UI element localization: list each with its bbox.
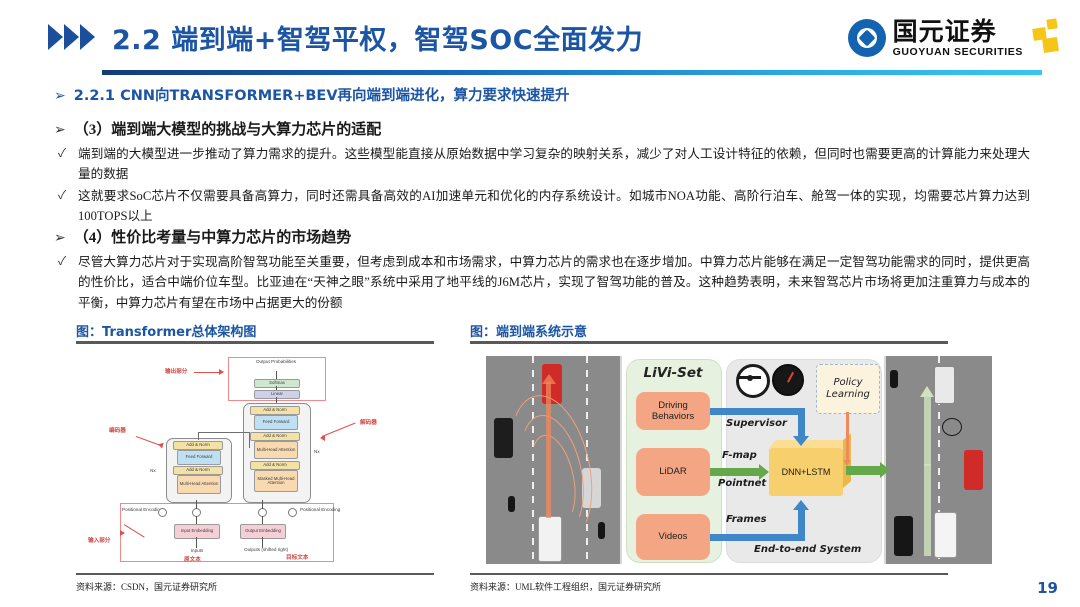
ego-trajectory-arrow bbox=[546, 382, 551, 518]
input-part-arrowhead bbox=[120, 530, 125, 536]
bullet-arrow-icon: ➢ bbox=[54, 230, 66, 246]
logo-name-en: GUOYUAN SECURITIES bbox=[893, 47, 1023, 58]
output-part-label: 输出部分 bbox=[165, 367, 187, 375]
output-probabilities-label: Output Probabilities bbox=[242, 359, 310, 364]
paragraph-3-2-text: 这就要求SoC芯片不仅需要具备高算力，同时还需具备高效的AI加速单元和优化的内存… bbox=[78, 189, 1030, 223]
figure-left-source-rule bbox=[76, 573, 434, 575]
figure-left-source: 资料来源：CSDN，国元证券研究所 bbox=[76, 580, 217, 593]
linear-block: Linear bbox=[254, 390, 300, 399]
bullet-arrow-icon: ➢ bbox=[54, 88, 66, 104]
positional-encoding-right-label: Positional Encoding bbox=[300, 507, 332, 512]
figure-right-caption: 图：端到端系统示意 bbox=[470, 321, 587, 340]
encoder-add-norm-2: Add & Norm bbox=[173, 441, 223, 450]
guoyuan-circle-logo-icon bbox=[848, 19, 886, 57]
decoder-pointer bbox=[322, 423, 356, 438]
figure-left-caption-rule bbox=[76, 341, 434, 344]
subheading-4: ➢（4）性价比考量与中算力芯片的市场趋势 bbox=[54, 226, 351, 247]
encoder-add-norm-1: Add & Norm bbox=[173, 466, 223, 475]
subheading-3-text: （3）端到端大模型的挑战与大算力芯片的适配 bbox=[74, 122, 382, 138]
bullet-tick-icon: ✓ bbox=[58, 186, 66, 205]
outputs-label: Outputs (shifted right) bbox=[244, 547, 282, 552]
figure-right-source: 资料来源：UML软件工程组织，国元证券研究所 bbox=[470, 580, 661, 593]
output-arrow bbox=[846, 466, 882, 475]
page-number: 19 bbox=[1037, 579, 1058, 597]
decoder-feed-forward: Feed Forward bbox=[254, 415, 298, 430]
decoder-cross-attention: Multi-Head Attention bbox=[254, 441, 298, 459]
source-text-label: 原文本 bbox=[184, 555, 201, 563]
transformer-architecture-diagram: 输出部分 Output Probabilities Softmax Linear… bbox=[88, 356, 428, 564]
paragraph-4-1: ✓ 尽管大算力芯片对于实现高阶智驾功能至关重要，但考虑到成本和市场需求，中算力芯… bbox=[78, 252, 1030, 313]
decoder-add-norm-2: Add & Norm bbox=[250, 432, 300, 441]
pedestrian-left bbox=[508, 496, 515, 512]
fmap-label: F-map bbox=[722, 450, 757, 461]
encoder-arrowhead bbox=[157, 441, 163, 448]
decoder-arrowhead bbox=[320, 435, 325, 441]
planned-path bbox=[924, 464, 931, 556]
encoder-self-attention: Multi-Head Attention bbox=[177, 475, 221, 494]
cyclist-right bbox=[942, 418, 962, 436]
chevron-right-icon bbox=[48, 24, 95, 50]
figure-left-caption: 图：Transformer总体架构图 bbox=[76, 321, 256, 340]
encoder-feed-forward: Feed Forward bbox=[177, 450, 221, 465]
target-text-label: 目标文本 bbox=[286, 553, 308, 561]
input-driving-behaviors: Driving Behaviors bbox=[636, 392, 710, 430]
end-to-end-system-diagram: LiVi-Set Driving Behaviors LiDAR Videos … bbox=[486, 356, 992, 564]
decoder-masked-attention: Masked Multi-Head Attention bbox=[254, 470, 298, 492]
decoder-nx-label: Nx bbox=[314, 449, 320, 454]
pedestrian-left-2 bbox=[598, 522, 605, 539]
bullet-tick-icon: ✓ bbox=[58, 252, 66, 271]
speedometer-icon bbox=[772, 364, 804, 396]
figure-right-caption-rule bbox=[470, 341, 948, 344]
slide: 2.2 端到端+智驾平权，智驾SOC全面发力 国元证券 GUOYUAN SECU… bbox=[0, 0, 1080, 607]
page-title: 2.2 端到端+智驾平权，智驾SOC全面发力 bbox=[112, 18, 643, 57]
input-embedding-block: Input Embedding bbox=[174, 524, 220, 539]
input-lidar: LiDAR bbox=[636, 448, 710, 496]
logo-squares-icon bbox=[1028, 18, 1062, 58]
car-black-right bbox=[894, 516, 913, 556]
decoder-label: 解码器 bbox=[360, 418, 377, 426]
figure-right-source-rule bbox=[470, 573, 948, 575]
subheading-3: ➢（3）端到端大模型的挑战与大算力芯片的适配 bbox=[54, 118, 381, 139]
output-embedding-block: Output Embedding bbox=[240, 524, 286, 539]
input-part-label: 输入部分 bbox=[88, 536, 110, 544]
motorcyclist-right bbox=[890, 370, 898, 388]
bullet-tick-icon: ✓ bbox=[58, 144, 66, 163]
car-white-right bbox=[934, 366, 955, 404]
frames-arrow bbox=[710, 534, 805, 541]
input-videos: Videos bbox=[636, 514, 710, 560]
supervisor-arrow bbox=[710, 408, 805, 415]
paragraph-3-1: ✓ 端到端的大模型进一步推动了算力需求的提升。这些模型能直接从原始数据中学习复杂… bbox=[78, 144, 1030, 185]
frames-label: Frames bbox=[726, 514, 767, 525]
dnn-lstm-box: DNN+LSTM bbox=[769, 448, 843, 496]
output-part-arrowhead bbox=[219, 369, 224, 375]
policy-feedback-arrow bbox=[846, 412, 849, 462]
supervisor-label: Supervisor bbox=[726, 418, 787, 429]
subheading-4-text: （4）性价比考量与中算力芯片的市场趋势 bbox=[74, 230, 352, 246]
section-heading-text: 2.2.1 CNN向TRANSFORMER+BEV再向端到端进化，算力要求快速提… bbox=[74, 88, 570, 104]
positional-encoding-left-label: Positional Encoding bbox=[122, 507, 154, 512]
steering-wheel-icon bbox=[736, 364, 770, 398]
paragraph-3-1-text: 端到端的大模型进一步推动了算力需求的提升。这些模型能直接从原始数据中学习复杂的映… bbox=[78, 147, 1030, 181]
livi-set-title: LiVi-Set bbox=[636, 365, 710, 381]
decoder-add-norm-3: Add & Norm bbox=[250, 406, 300, 415]
encoder-label: 编码器 bbox=[109, 426, 126, 434]
inputs-label: Inputs bbox=[180, 548, 214, 553]
pos-enc-circle-left bbox=[158, 508, 167, 517]
section-heading: ➢2.2.1 CNN向TRANSFORMER+BEV再向端到端进化，算力要求快速… bbox=[54, 84, 570, 105]
bullet-arrow-icon: ➢ bbox=[54, 122, 66, 138]
softmax-block: Softmax bbox=[254, 379, 300, 388]
slide-header: 2.2 端到端+智驾平权，智驾SOC全面发力 国元证券 GUOYUAN SECU… bbox=[0, 0, 1080, 72]
paragraph-3-2: ✓ 这就要求SoC芯片不仅需要具备高算力，同时还需具备高效的AI加速单元和优化的… bbox=[78, 186, 1030, 227]
decoder-add-norm-1: Add & Norm bbox=[250, 461, 300, 470]
encoder-nx-label: Nx bbox=[150, 468, 156, 473]
output-part-pointer bbox=[194, 372, 220, 373]
car-red-right bbox=[964, 450, 983, 490]
pos-enc-circle-right bbox=[288, 508, 297, 517]
policy-learning-box: Policy Learning bbox=[816, 364, 880, 414]
car-white-right-2 bbox=[934, 512, 957, 558]
pointnet-label: Pointnet bbox=[718, 478, 766, 489]
paragraph-4-1-text: 尽管大算力芯片对于实现高阶智驾功能至关重要，但考虑到成本和市场需求，中算力芯片的… bbox=[78, 255, 1030, 310]
company-logo: 国元证券 GUOYUAN SECURITIES bbox=[848, 12, 1062, 64]
header-divider bbox=[102, 70, 1042, 75]
end-to-end-system-label: End-to-end System bbox=[754, 544, 861, 555]
lidar-arrow bbox=[710, 468, 760, 476]
logo-name-cn: 国元证券 bbox=[893, 19, 1023, 44]
